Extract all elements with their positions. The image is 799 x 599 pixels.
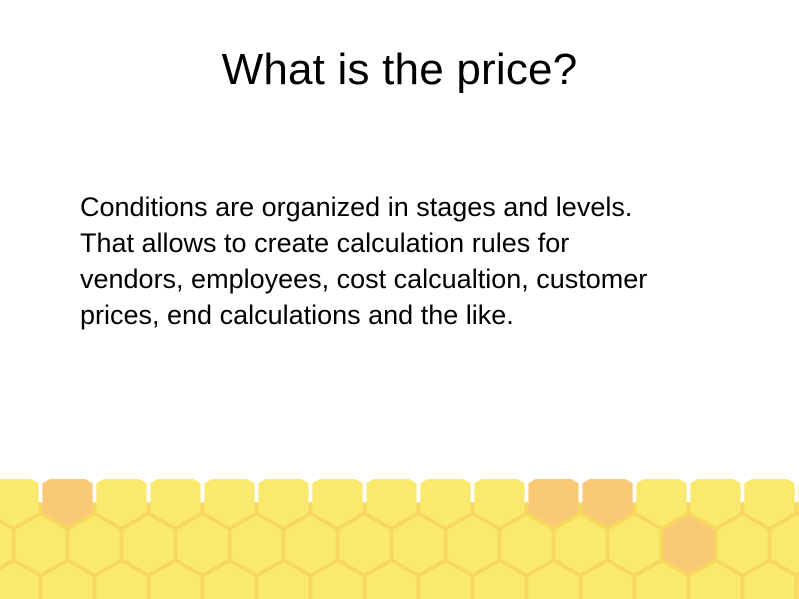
body-line: That allows to create calculation rules … [80, 225, 780, 261]
honeycomb-svg [0, 479, 799, 599]
body-line: prices, end calculations and the like. [80, 297, 780, 333]
honeycomb-decoration [0, 479, 799, 599]
slide-canvas: What is the price? Conditions are organi… [0, 0, 799, 599]
body-line: vendors, employees, cost calcualtion, cu… [80, 261, 780, 297]
body-line: Conditions are organized in stages and l… [80, 189, 780, 225]
slide-body-text: Conditions are organized in stages and l… [80, 189, 780, 333]
page-title: What is the price? [0, 44, 799, 96]
